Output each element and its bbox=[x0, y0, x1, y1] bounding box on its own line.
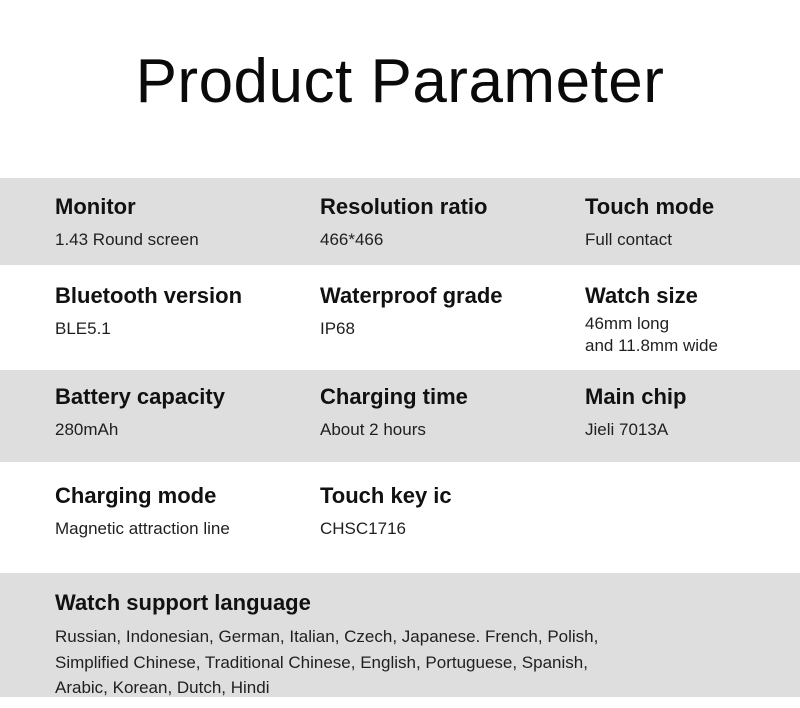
spec-label: Main chip bbox=[585, 384, 795, 410]
spec-row: Battery capacity 280mAh Charging time Ab… bbox=[0, 370, 800, 462]
spec-label: Resolution ratio bbox=[320, 194, 582, 220]
spec-cell-main-chip: Main chip Jieli 7013A bbox=[585, 370, 795, 440]
title-area: Product Parameter bbox=[0, 0, 800, 178]
spec-value: Full contact bbox=[585, 229, 795, 250]
spec-row: Monitor 1.43 Round screen Resolution rat… bbox=[0, 178, 800, 265]
language-list: Russian, Indonesian, German, Italian, Cz… bbox=[55, 624, 800, 699]
spec-cell-charging-time: Charging time About 2 hours bbox=[320, 370, 582, 440]
spec-value: Magnetic attraction line bbox=[55, 518, 317, 539]
spec-cell-bluetooth-version: Bluetooth version BLE5.1 bbox=[55, 265, 317, 339]
spec-cell-charging-mode: Charging mode Magnetic attraction line bbox=[55, 462, 317, 539]
spec-cell-battery-capacity: Battery capacity 280mAh bbox=[55, 370, 317, 440]
spec-value: IP68 bbox=[320, 318, 582, 339]
spec-label: Touch mode bbox=[585, 194, 795, 220]
spec-label: Bluetooth version bbox=[55, 283, 317, 309]
footer-strip bbox=[0, 697, 800, 708]
page-title: Product Parameter bbox=[136, 51, 665, 113]
spec-cell-watch-size: Watch size 46mm long and 11.8mm wide bbox=[585, 265, 795, 357]
spec-value: About 2 hours bbox=[320, 419, 582, 440]
language-block-title: Watch support language bbox=[55, 590, 800, 616]
spec-label: Charging mode bbox=[55, 483, 317, 509]
product-parameter-page: Product Parameter Monitor 1.43 Round scr… bbox=[0, 0, 800, 708]
spec-value: Jieli 7013A bbox=[585, 419, 795, 440]
spec-value: 1.43 Round screen bbox=[55, 229, 317, 250]
spec-value: CHSC1716 bbox=[320, 518, 582, 539]
watch-support-language-block: Watch support language Russian, Indonesi… bbox=[0, 573, 800, 697]
spec-label: Watch size bbox=[585, 283, 795, 309]
spec-value: 46mm long and 11.8mm wide bbox=[585, 313, 795, 357]
spec-row: Charging mode Magnetic attraction line T… bbox=[0, 462, 800, 573]
spec-value: 280mAh bbox=[55, 419, 317, 440]
spec-cell-touch-key-ic: Touch key ic CHSC1716 bbox=[320, 462, 582, 539]
spec-cell-monitor: Monitor 1.43 Round screen bbox=[55, 178, 317, 250]
spec-cell-waterproof-grade: Waterproof grade IP68 bbox=[320, 265, 582, 339]
spec-value: 466*466 bbox=[320, 229, 582, 250]
spec-label: Waterproof grade bbox=[320, 283, 582, 309]
spec-value: BLE5.1 bbox=[55, 318, 317, 339]
spec-row: Bluetooth version BLE5.1 Waterproof grad… bbox=[0, 265, 800, 370]
spec-cell-resolution-ratio: Resolution ratio 466*466 bbox=[320, 178, 582, 250]
spec-label: Monitor bbox=[55, 194, 317, 220]
spec-cell-touch-mode: Touch mode Full contact bbox=[585, 178, 795, 250]
spec-label: Battery capacity bbox=[55, 384, 317, 410]
spec-label: Charging time bbox=[320, 384, 582, 410]
spec-label: Touch key ic bbox=[320, 483, 582, 509]
